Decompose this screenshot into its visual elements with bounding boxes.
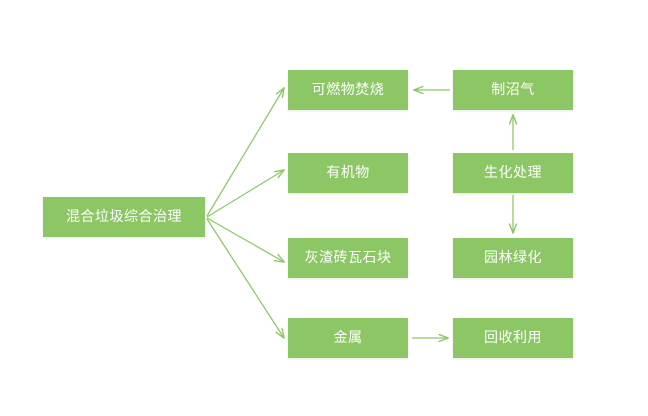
node-mixed-waste-treatment[interactable]: 混合垃圾综合治理 <box>43 197 205 237</box>
node-label: 园林绿化 <box>484 251 542 265</box>
node-label: 可燃物焚烧 <box>312 83 385 97</box>
edge-root-to-organic <box>207 170 284 217</box>
edge-root-to-metal <box>207 219 284 338</box>
node-ash-brick-tile-stone[interactable]: 灰渣砖瓦石块 <box>288 238 408 278</box>
node-label: 金属 <box>334 331 363 345</box>
node-label: 制沼气 <box>491 83 535 97</box>
node-biochemical-treatment[interactable]: 生化处理 <box>453 153 573 193</box>
node-organic-matter[interactable]: 有机物 <box>288 153 408 193</box>
node-label: 回收利用 <box>484 331 542 345</box>
node-label: 混合垃圾综合治理 <box>66 210 182 224</box>
flowchart-canvas: 混合垃圾综合治理 可燃物焚烧 有机物 灰渣砖瓦石块 金属 制沼气 生化处理 园林… <box>0 0 648 416</box>
edge-root-to-combustible <box>207 88 284 216</box>
node-label: 灰渣砖瓦石块 <box>305 251 392 265</box>
edge-root-to-ash-brick <box>207 218 284 262</box>
node-combustible-incineration[interactable]: 可燃物焚烧 <box>288 70 408 110</box>
node-landscaping-greening[interactable]: 园林绿化 <box>453 238 573 278</box>
node-recycling-reuse[interactable]: 回收利用 <box>453 318 573 358</box>
node-biogas-production[interactable]: 制沼气 <box>453 70 573 110</box>
node-metal[interactable]: 金属 <box>288 318 408 358</box>
node-label: 有机物 <box>326 166 370 180</box>
node-label: 生化处理 <box>484 166 542 180</box>
